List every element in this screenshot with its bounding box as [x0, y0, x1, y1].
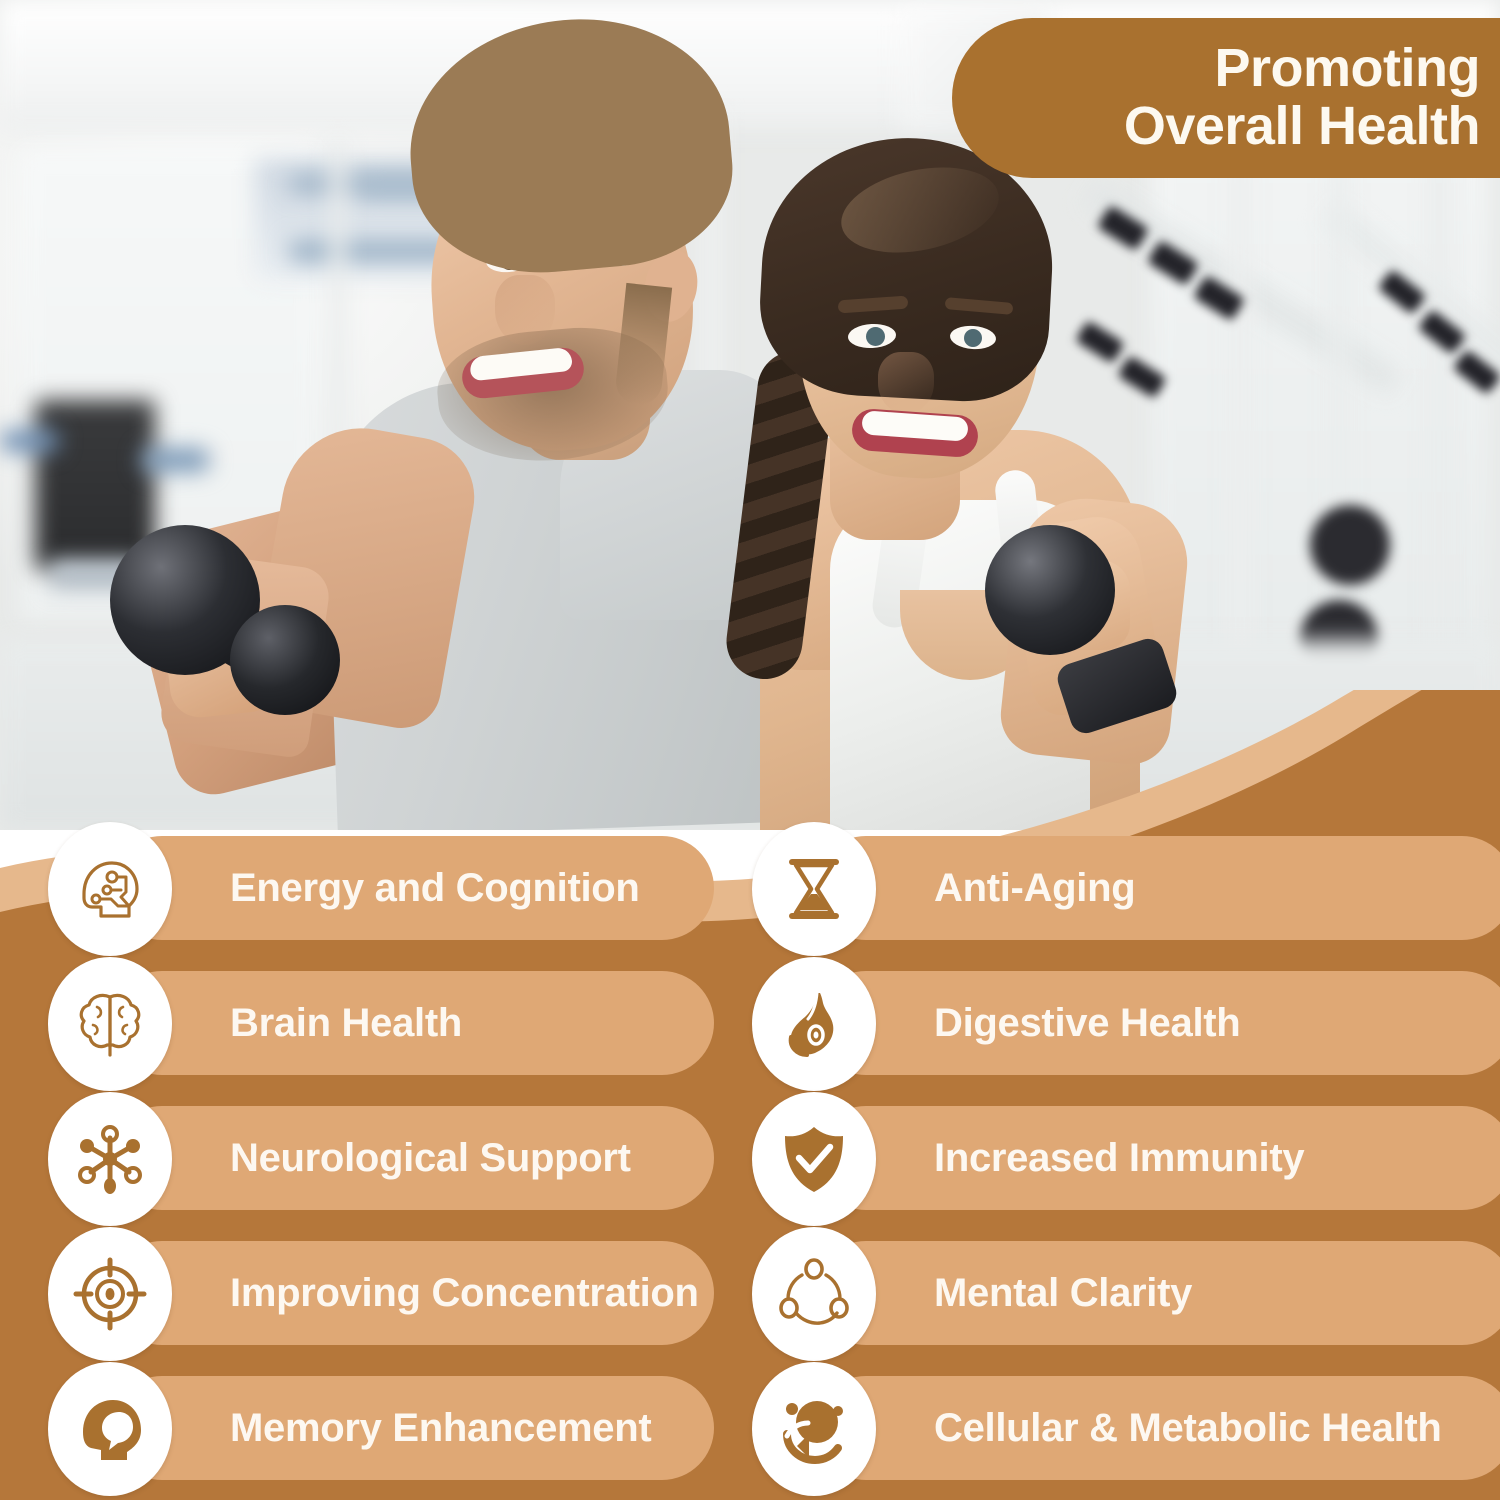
benefits-column-left: Energy and Cognition Brain — [48, 822, 714, 1497]
benefit-label: Energy and Cognition — [110, 866, 640, 911]
header-line-2: Overall Health — [1124, 98, 1480, 156]
header-badge: Promoting Overall Health — [952, 18, 1500, 178]
machine-handle — [140, 448, 210, 472]
benefit-item-improving-concentration[interactable]: Improving Concentration — [48, 1227, 714, 1362]
benefit-pill[interactable]: Increased Immunity — [814, 1106, 1500, 1210]
benefit-item-anti-aging[interactable]: Anti-Aging — [752, 822, 1452, 957]
benefit-label: Cellular & Metabolic Health — [814, 1406, 1442, 1451]
benefit-label: Memory Enhancement — [110, 1406, 651, 1451]
benefit-label: Improving Concentration — [110, 1271, 699, 1316]
header-line-1: Promoting — [1215, 40, 1480, 98]
benefit-label: Increased Immunity — [814, 1136, 1304, 1181]
benefit-pill[interactable]: Improving Concentration — [110, 1241, 714, 1345]
benefit-item-increased-immunity[interactable]: Increased Immunity — [752, 1092, 1452, 1227]
benefit-pill[interactable]: Digestive Health — [814, 971, 1500, 1075]
benefit-item-mental-clarity[interactable]: Mental Clarity — [752, 1227, 1452, 1362]
machine-handle — [0, 430, 60, 452]
benefit-pill[interactable]: Cellular & Metabolic Health — [814, 1376, 1500, 1480]
rack-post — [1430, 150, 1448, 670]
woman-nose — [878, 352, 934, 414]
benefit-pill[interactable]: Mental Clarity — [814, 1241, 1500, 1345]
benefit-pill[interactable]: Memory Enhancement — [110, 1376, 714, 1480]
woman-pupil — [964, 329, 982, 347]
cell-cycle-icon — [752, 1362, 876, 1496]
benefit-pill[interactable]: Energy and Cognition — [110, 836, 714, 940]
infographic-canvas: Promoting Overall Health Energy and Cogn… — [0, 0, 1500, 1500]
benefit-item-cellular-metabolic-health[interactable]: Cellular & Metabolic Health — [752, 1362, 1452, 1497]
stomach-icon — [752, 957, 876, 1091]
dumbbell-weight — [985, 525, 1115, 655]
triangle-nodes-icon — [752, 1227, 876, 1361]
benefit-item-energy-and-cognition[interactable]: Energy and Cognition — [48, 822, 714, 957]
benefit-item-brain-health[interactable]: Brain Health — [48, 957, 714, 1092]
shield-check-icon — [752, 1092, 876, 1226]
benefit-item-digestive-health[interactable]: Digestive Health — [752, 957, 1452, 1092]
benefits-column-right: Anti-Aging Digestive Health — [752, 822, 1452, 1497]
woman-pupil — [866, 327, 885, 346]
benefit-item-memory-enhancement[interactable]: Memory Enhancement — [48, 1362, 714, 1497]
racked-dumbbell — [1075, 320, 1125, 364]
rack-post — [1230, 150, 1250, 710]
racked-dumbbell-head — [1310, 505, 1390, 585]
benefit-item-neurological-support[interactable]: Neurological Support — [48, 1092, 714, 1227]
man-nose — [495, 275, 555, 345]
benefit-label: Neurological Support — [110, 1136, 631, 1181]
benefit-pill[interactable]: Neurological Support — [110, 1106, 714, 1210]
head-memory-icon — [48, 1362, 172, 1496]
hourglass-icon — [752, 822, 876, 956]
benefit-pill[interactable]: Brain Health — [110, 971, 714, 1075]
molecule-network-icon — [48, 1092, 172, 1226]
benefit-pill[interactable]: Anti-Aging — [814, 836, 1500, 940]
head-circuit-icon — [48, 822, 172, 956]
brain-icon — [48, 957, 172, 1091]
benefit-label: Digestive Health — [814, 1001, 1240, 1046]
benefits-grid: Energy and Cognition Brain — [0, 822, 1500, 1500]
target-crosshair-icon — [48, 1227, 172, 1361]
